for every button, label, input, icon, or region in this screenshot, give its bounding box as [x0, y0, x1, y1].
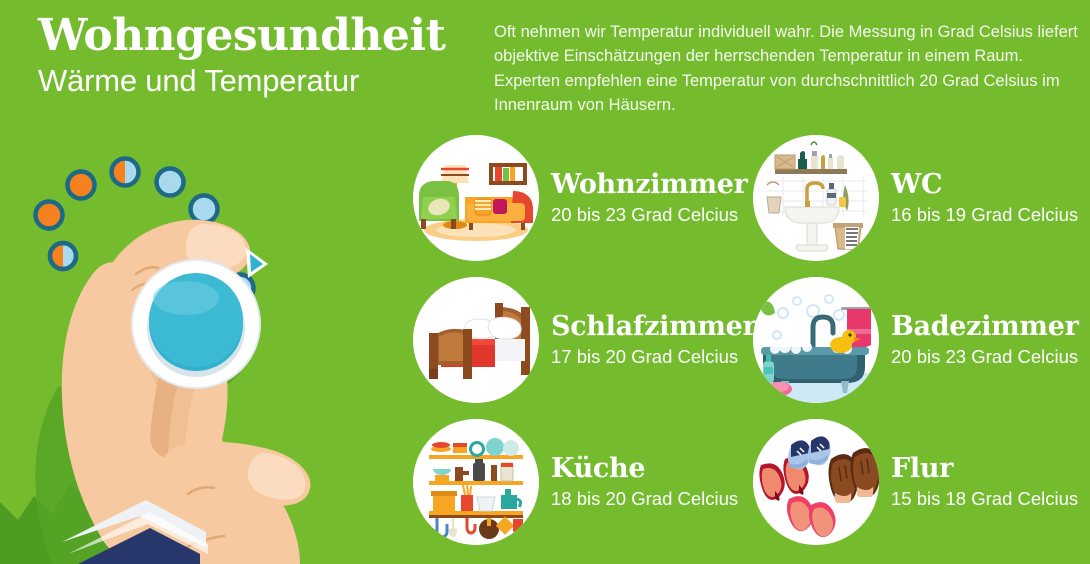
bathroom-icon [753, 277, 879, 403]
page-title: Wohngesundheit Wärme und Temperatur [38, 14, 478, 99]
bedroom-icon [413, 277, 539, 403]
room-item-badezimmer[interactable]: Badezimmer 20 bis 23 Grad Celcius [753, 274, 1079, 406]
room-temperature: 20 bis 23 Grad Celcius [891, 347, 1079, 367]
toilet-sink-icon [753, 135, 879, 261]
room-temperature: 16 bis 19 Grad Celcius [891, 205, 1078, 225]
living-room-icon [413, 135, 539, 261]
kitchen-icon [413, 419, 539, 545]
room-text: Schlafzimmer 17 bis 20 Grad Celcius [551, 312, 756, 367]
room-name: Badezimmer [891, 312, 1079, 342]
intro-paragraph: Oft nehmen wir Temperatur individuell wa… [494, 20, 1084, 117]
room-temperature: 15 bis 18 Grad Celcius [891, 489, 1078, 509]
room-text: Flur 15 bis 18 Grad Celcius [891, 454, 1078, 509]
room-text: Küche 18 bis 20 Grad Celcius [551, 454, 738, 509]
room-item-schlafzimmer[interactable]: Schlafzimmer 17 bis 20 Grad Celcius [413, 274, 756, 406]
room-temperature: 17 bis 20 Grad Celcius [551, 347, 756, 367]
brown-shoes [829, 448, 880, 503]
transition-dot [112, 159, 139, 186]
room-text: Wohnzimmer 20 bis 23 Grad Celcius [551, 170, 748, 225]
infographic-root: Wohngesundheit Wärme und Temperatur Oft … [0, 0, 1090, 564]
room-item-wc[interactable]: WC 16 bis 19 Grad Celcius [753, 132, 1079, 264]
hallway-shoes-icon [753, 419, 879, 545]
room-item-wohnzimmer[interactable]: Wohnzimmer 20 bis 23 Grad Celcius [413, 132, 756, 264]
title-main: Wohngesundheit [38, 14, 478, 59]
room-temperature: 18 bis 20 Grad Celcius [551, 489, 738, 509]
room-name: Schlafzimmer [551, 312, 756, 342]
room-name: Wohnzimmer [551, 170, 748, 200]
room-name: Flur [891, 454, 1078, 484]
title-subtitle: Wärme und Temperatur [38, 63, 478, 99]
room-column-left: Wohnzimmer 20 bis 23 Grad Celcius [413, 132, 756, 558]
room-column-right: WC 16 bis 19 Grad Celcius [753, 132, 1079, 558]
room-text: Badezimmer 20 bis 23 Grad Celcius [891, 312, 1079, 367]
room-item-flur[interactable]: Flur 15 bis 18 Grad Celcius [753, 416, 1079, 548]
room-name: Küche [551, 454, 738, 484]
hand-thermostat-illustration [0, 150, 420, 564]
room-text: WC 16 bis 19 Grad Celcius [891, 170, 1078, 225]
room-temperature: 20 bis 23 Grad Celcius [551, 205, 748, 225]
room-name: WC [891, 170, 1078, 200]
room-item-kueche[interactable]: Küche 18 bis 20 Grad Celcius [413, 416, 756, 548]
